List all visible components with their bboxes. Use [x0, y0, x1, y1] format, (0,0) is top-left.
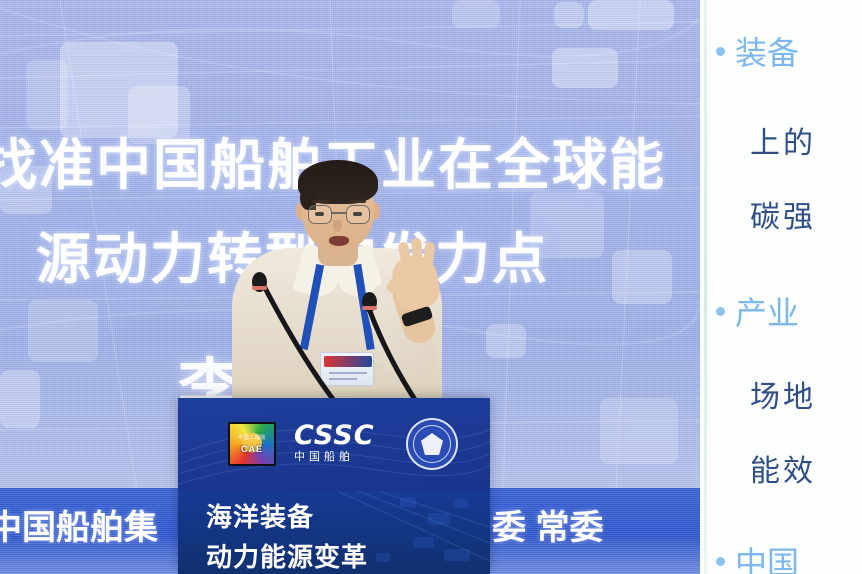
slide-left-edge-line	[704, 0, 707, 574]
cssc-logo-subtitle: 中国船舶	[294, 450, 390, 464]
wall-block	[554, 2, 584, 28]
slide-bullet-2-head: 产业	[735, 288, 799, 334]
wall-block	[600, 398, 678, 464]
slide-bullet-2-line-2: 能效	[750, 446, 816, 490]
slide-bullet-3-head: 中国	[735, 538, 799, 574]
speaker-eyebrow-left	[312, 200, 330, 203]
podium-banner: 海洋装备 动力能源变革	[178, 491, 490, 574]
wall-strip-right-text: 委 常委	[492, 500, 603, 549]
podium-banner-line2: 动力能源变革	[206, 537, 368, 574]
speaker-eyebrow-right	[348, 200, 366, 203]
wall-block	[486, 324, 526, 358]
slide-bullet-1: 装备	[716, 28, 799, 74]
conference-photo: 找准中国船舶工业在全球能 源动力转型的发力点 李 中国船舶集 委 常委	[0, 0, 700, 574]
wall-block	[612, 250, 672, 304]
bullet-dot-icon	[716, 557, 725, 566]
speaker-finger	[411, 238, 423, 265]
wall-strip-left-text: 中国船舶集	[0, 500, 158, 549]
seal-logo-glyph	[421, 433, 443, 455]
podium-banner-line1: 海洋装备	[206, 497, 314, 534]
podium: 中国工程院 CAE CSSC 中国船舶	[178, 398, 490, 574]
cae-logo-en-label: CAE	[230, 444, 274, 454]
wall-block	[452, 0, 500, 28]
screenshot-stage: 找准中国船舶工业在全球能 源动力转型的发力点 李 中国船舶集 委 常委	[0, 0, 862, 574]
cae-logo: 中国工程院 CAE	[228, 422, 276, 466]
speaker-nose	[333, 220, 342, 232]
eyeglasses-lens-left	[308, 205, 332, 224]
bullet-dot-icon	[716, 307, 725, 316]
slide-bullet-1-line-1: 上的	[750, 118, 816, 162]
slide-bullet-2: 产业	[716, 288, 799, 334]
slide-bullet-2-line-1: 场地	[750, 372, 816, 416]
wall-block	[588, 0, 674, 30]
slide-bullet-1-line-2: 碳强	[750, 192, 816, 236]
cae-logo-cn-label: 中国工程院	[230, 434, 274, 441]
speaker-mouth	[329, 236, 349, 246]
slide-bullet-3: 中国	[716, 538, 799, 574]
speaker-hair	[298, 160, 378, 204]
microphone-ring-left	[252, 286, 267, 290]
microphone-ring-right	[362, 306, 377, 310]
wall-block	[552, 48, 618, 88]
wall-block	[28, 300, 98, 362]
cssc-logo-mark: CSSC	[294, 422, 390, 450]
eyeglasses-bridge	[332, 212, 346, 214]
cssc-logo: CSSC 中国船舶	[294, 422, 390, 468]
presentation-slide-panel: 装备 上的 碳强 产业 场地 能效 中国	[700, 0, 862, 574]
university-seal-logo	[406, 418, 458, 470]
eyeglasses-lens-right	[346, 205, 370, 224]
podium-logo-row: 中国工程院 CAE CSSC 中国船舶	[178, 416, 490, 476]
bullet-dot-icon	[716, 47, 725, 56]
slide-bullet-1-head: 装备	[735, 28, 799, 74]
wall-block	[0, 370, 40, 428]
